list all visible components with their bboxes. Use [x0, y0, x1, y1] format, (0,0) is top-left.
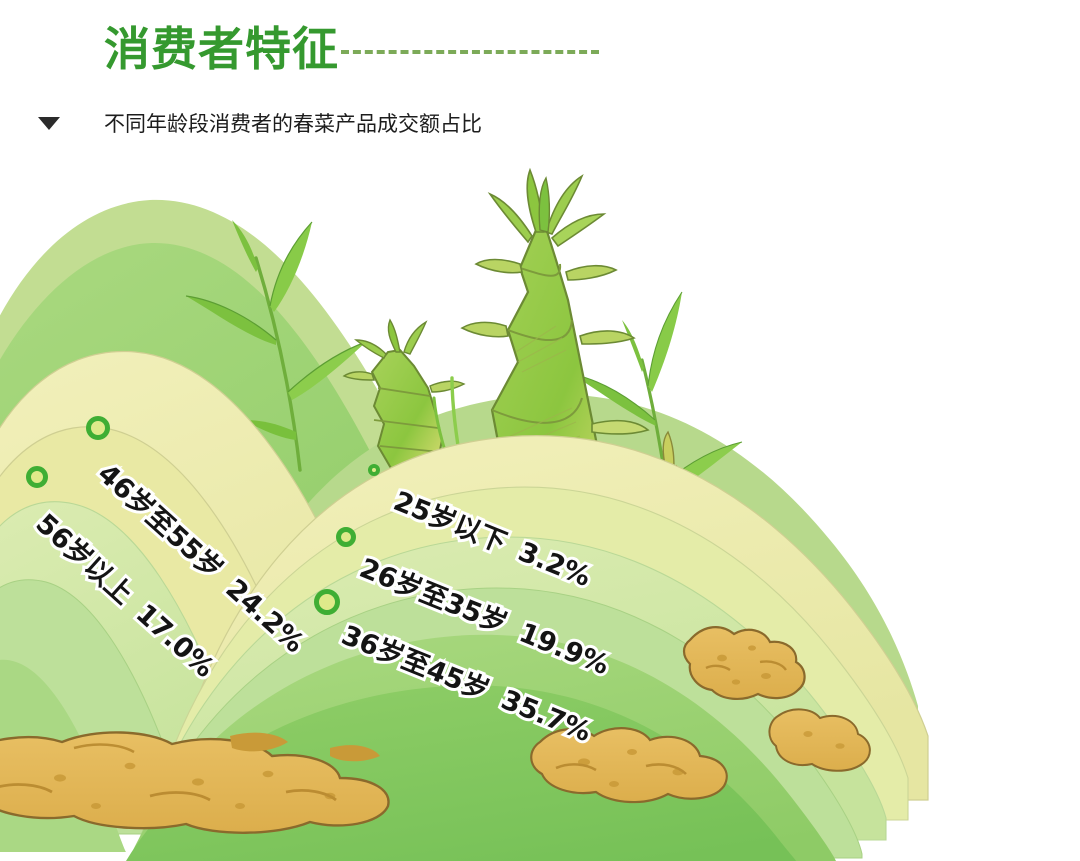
page-title: 消费者特征: [104, 26, 339, 72]
title-dashed-rule: [341, 50, 599, 54]
triangle-down-icon: [38, 117, 60, 130]
title-row: 消费者特征: [104, 26, 599, 72]
data-marker-26-35[interactable]: [336, 527, 356, 547]
header: 消费者特征 不同年龄段消费者的春菜产品成交额占比: [0, 0, 1080, 170]
data-marker-56-plus[interactable]: [26, 466, 48, 488]
data-marker-under-25[interactable]: [368, 464, 380, 476]
data-marker-36-45[interactable]: [314, 589, 340, 615]
subtitle-row: 不同年龄段消费者的春菜产品成交额占比: [38, 108, 482, 138]
subtitle-text: 不同年龄段消费者的春菜产品成交额占比: [104, 108, 482, 138]
data-marker-46-55[interactable]: [86, 416, 110, 440]
